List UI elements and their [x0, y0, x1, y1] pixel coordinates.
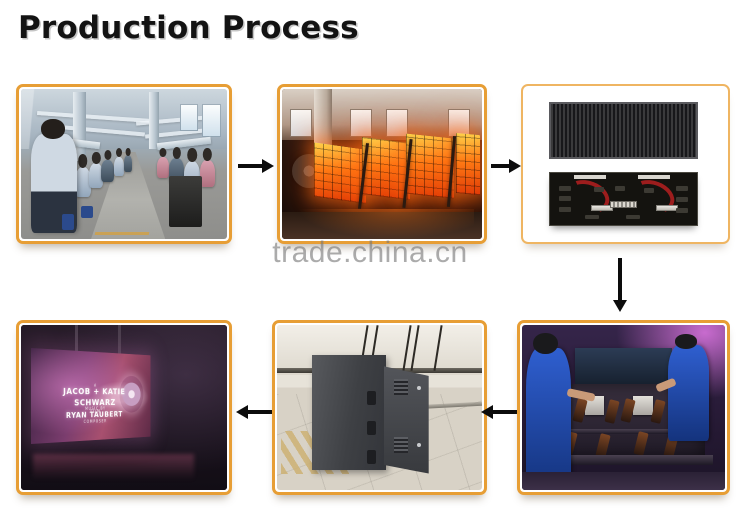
page-title: Production Process — [18, 10, 359, 46]
arrow-head-right-icon — [509, 159, 521, 173]
arrow-shaft — [247, 410, 272, 414]
ic-chip — [559, 196, 571, 201]
window — [290, 109, 312, 138]
cabinet-handle — [367, 391, 376, 405]
arrow-shaft — [238, 164, 263, 168]
pillar — [149, 92, 159, 149]
ic-chip — [559, 186, 571, 191]
worker — [200, 160, 214, 187]
led-panel-rack — [406, 133, 454, 198]
arrow-step5-to-step6 — [236, 404, 272, 420]
floor-glow — [298, 209, 474, 239]
arrow-head-down-icon — [613, 300, 627, 312]
window — [202, 104, 221, 137]
ic-chip — [559, 207, 571, 212]
step-card-3-led-module[interactable] — [521, 84, 730, 244]
pcb-label — [574, 175, 606, 179]
photo-aging-test — [282, 89, 482, 239]
floor-marking — [95, 232, 149, 235]
ic-chip — [594, 187, 604, 191]
led-panel-rack — [362, 137, 410, 200]
worker-left — [526, 348, 571, 490]
step-card-1-assembly-line[interactable] — [16, 84, 232, 244]
ic-chip — [676, 197, 688, 202]
ic-chip — [644, 188, 654, 192]
ic-chip — [676, 208, 688, 213]
photo-led-module — [525, 88, 726, 240]
arrow-step3-to-step4 — [612, 258, 628, 312]
wire-bundle — [605, 400, 620, 425]
photo-finished-cabinet — [277, 325, 482, 490]
led-screen: A JACOB + KATIE SCHWARZ FILM MUSIC BY RY… — [31, 348, 150, 444]
cabinet-handle — [367, 421, 376, 435]
led-module-back-pcb — [549, 172, 698, 227]
stool — [81, 206, 93, 218]
step-card-6-display-wall[interactable]: A JACOB + KATIE SCHWARZ FILM MUSIC BY RY… — [16, 320, 232, 495]
arrow-shaft — [618, 258, 622, 301]
worker-right — [668, 345, 709, 441]
connector — [656, 205, 678, 210]
cabinet-handle — [367, 450, 376, 464]
photo-factory-assembly-line — [21, 89, 227, 239]
arrow-head-right-icon — [262, 159, 274, 173]
ribbon-connector — [610, 201, 636, 208]
arrow-shaft — [491, 164, 510, 168]
ic-chip — [585, 215, 598, 219]
cabinet-side-panel — [384, 366, 429, 473]
window — [350, 109, 372, 138]
photo-cabinet-assembly — [522, 325, 725, 490]
wire-bundle — [572, 398, 587, 423]
arrow-step4-to-step5 — [481, 404, 517, 420]
screw — [417, 443, 421, 447]
worker — [114, 157, 124, 177]
vent — [394, 437, 408, 453]
stool — [62, 214, 74, 230]
vent — [394, 379, 408, 395]
arrow-head-left-icon — [481, 405, 493, 419]
worker — [157, 157, 169, 178]
worker — [101, 160, 113, 183]
step-card-5-finished-cabinet[interactable] — [272, 320, 487, 495]
led-panel-rack — [314, 142, 366, 203]
photo-led-display-wall: A JACOB + KATIE SCHWARZ FILM MUSIC BY RY… — [21, 325, 227, 490]
led-panel-rack — [456, 133, 480, 195]
window — [386, 109, 408, 138]
ic-chip — [626, 215, 639, 219]
screen-credit-sub: COMPOSER — [61, 418, 127, 425]
floor-reflection — [33, 454, 194, 480]
arrow-step2-to-step3 — [491, 158, 521, 174]
power-cable — [627, 174, 679, 218]
stacked-cabinet — [575, 348, 672, 384]
pcb-label — [638, 175, 670, 179]
wire-bundle — [595, 433, 610, 458]
window — [180, 104, 199, 131]
power-supply — [633, 396, 652, 415]
led-module-front-face — [549, 102, 698, 160]
screen-headline-prefix: A — [61, 383, 127, 389]
step-card-2-aging-test[interactable] — [277, 84, 487, 244]
arrow-shaft — [492, 410, 517, 414]
screen-headline-line1: JACOB + KATIE — [63, 388, 125, 398]
screen-credit: MUSIC BY RYAN TAUBERT COMPOSER — [61, 406, 127, 425]
worker — [124, 155, 132, 172]
equipment-cart — [169, 176, 202, 227]
arrow-step1-to-step2 — [238, 158, 274, 174]
ic-chip — [615, 186, 625, 190]
arrow-head-left-icon — [236, 405, 248, 419]
wire-bundle — [634, 431, 649, 456]
floor — [522, 472, 725, 490]
ic-chip — [676, 186, 688, 191]
screw — [417, 386, 421, 390]
step-card-4-cabinet-assembly[interactable] — [517, 320, 730, 495]
